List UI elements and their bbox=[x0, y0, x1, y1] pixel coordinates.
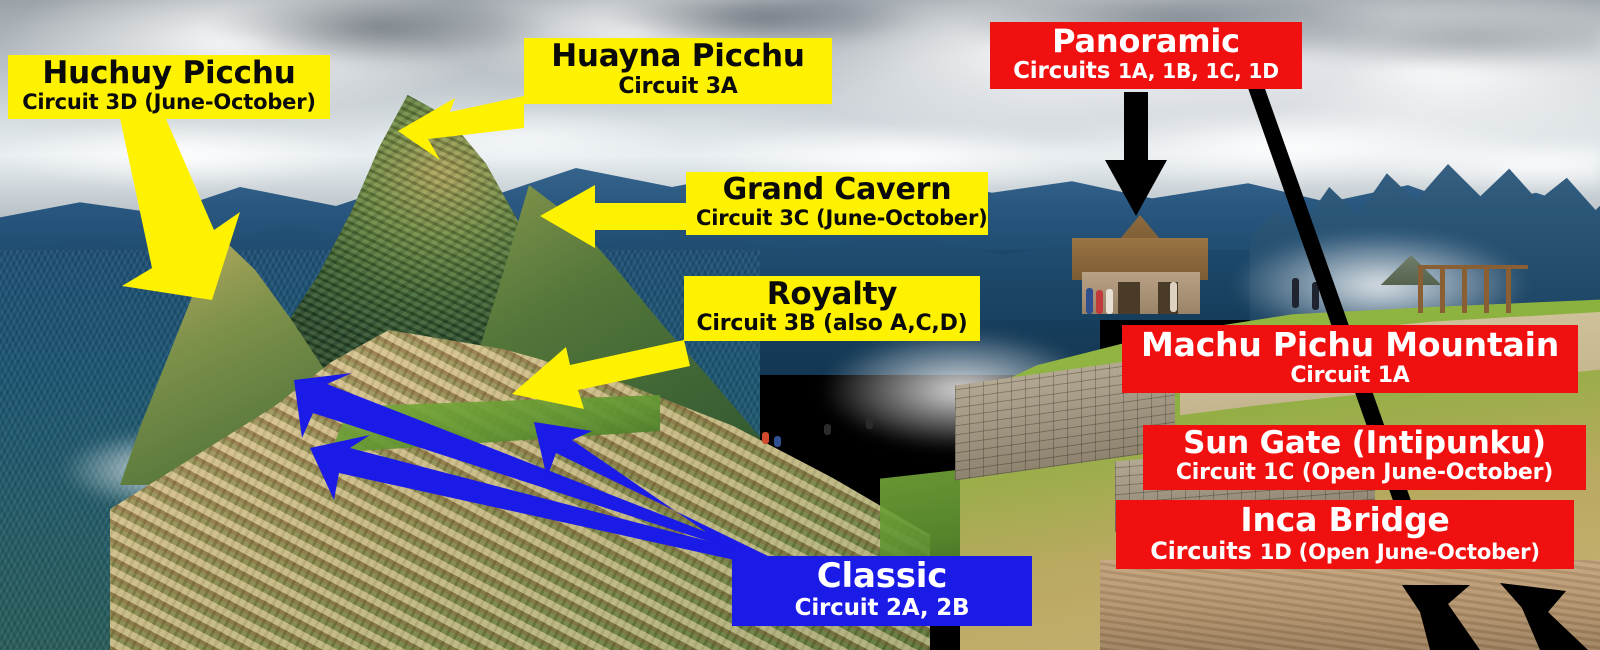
label-grand-cavern-title: Grand Cavern bbox=[696, 175, 978, 205]
label-sun-gate[interactable]: Sun Gate (Intipunku) Circuit 1C (Open Ju… bbox=[1143, 425, 1586, 490]
label-royalty[interactable]: Royalty Circuit 3B (also A,C,D) bbox=[684, 276, 980, 341]
label-royalty-title: Royalty bbox=[694, 279, 970, 310]
label-inca-bridge-subtitle: Circuits 1D (Open June-October) bbox=[1126, 539, 1564, 563]
label-huayna-picchu-title: Huayna Picchu bbox=[534, 41, 822, 72]
label-machu-pichu-mountain-subtitle: Circuit 1A bbox=[1132, 365, 1568, 387]
label-machu-pichu-mountain[interactable]: Machu Pichu Mountain Circuit 1A bbox=[1122, 325, 1578, 393]
label-inca-bridge-subtitle-lead: Circuits bbox=[1150, 537, 1251, 565]
label-sun-gate-subtitle: Circuit 1C (Open June-October) bbox=[1153, 462, 1576, 484]
annotated-photo-stage: Huchuy Picchu Circuit 3D (June-October) … bbox=[0, 0, 1600, 650]
labels-layer: Huchuy Picchu Circuit 3D (June-October) … bbox=[0, 0, 1600, 650]
label-huchuy-picchu[interactable]: Huchuy Picchu Circuit 3D (June-October) bbox=[8, 55, 330, 119]
label-huayna-picchu[interactable]: Huayna Picchu Circuit 3A bbox=[524, 38, 832, 104]
label-sun-gate-title: Sun Gate (Intipunku) bbox=[1153, 428, 1576, 459]
label-classic-title: Classic bbox=[742, 559, 1022, 593]
label-huayna-picchu-subtitle: Circuit 3A bbox=[534, 76, 822, 98]
label-panoramic-title: Panoramic bbox=[1000, 25, 1292, 57]
label-panoramic-subtitle-lead: Circuits bbox=[1013, 58, 1110, 84]
label-huchuy-picchu-subtitle: Circuit 3D (June-October) bbox=[18, 92, 320, 113]
label-panoramic-subtitle-rest: 1A, 1B, 1C, 1D bbox=[1118, 59, 1279, 83]
label-grand-cavern-subtitle: Circuit 3C (June-October) bbox=[696, 208, 978, 229]
label-panoramic[interactable]: Panoramic Circuits 1A, 1B, 1C, 1D bbox=[990, 22, 1302, 89]
label-huchuy-picchu-title: Huchuy Picchu bbox=[18, 58, 320, 89]
label-machu-pichu-mountain-title: Machu Pichu Mountain bbox=[1132, 328, 1568, 361]
label-inca-bridge-title: Inca Bridge bbox=[1126, 503, 1564, 536]
label-classic-subtitle: Circuit 2A, 2B bbox=[742, 597, 1022, 620]
label-inca-bridge-subtitle-rest: 1D (Open June-October) bbox=[1260, 539, 1540, 564]
label-royalty-subtitle: Circuit 3B (also A,C,D) bbox=[694, 313, 970, 335]
label-classic[interactable]: Classic Circuit 2A, 2B bbox=[732, 556, 1032, 626]
label-panoramic-subtitle: Circuits 1A, 1B, 1C, 1D bbox=[1000, 60, 1292, 83]
label-grand-cavern[interactable]: Grand Cavern Circuit 3C (June-October) bbox=[686, 172, 988, 235]
label-inca-bridge[interactable]: Inca Bridge Circuits 1D (Open June-Octob… bbox=[1116, 500, 1574, 569]
